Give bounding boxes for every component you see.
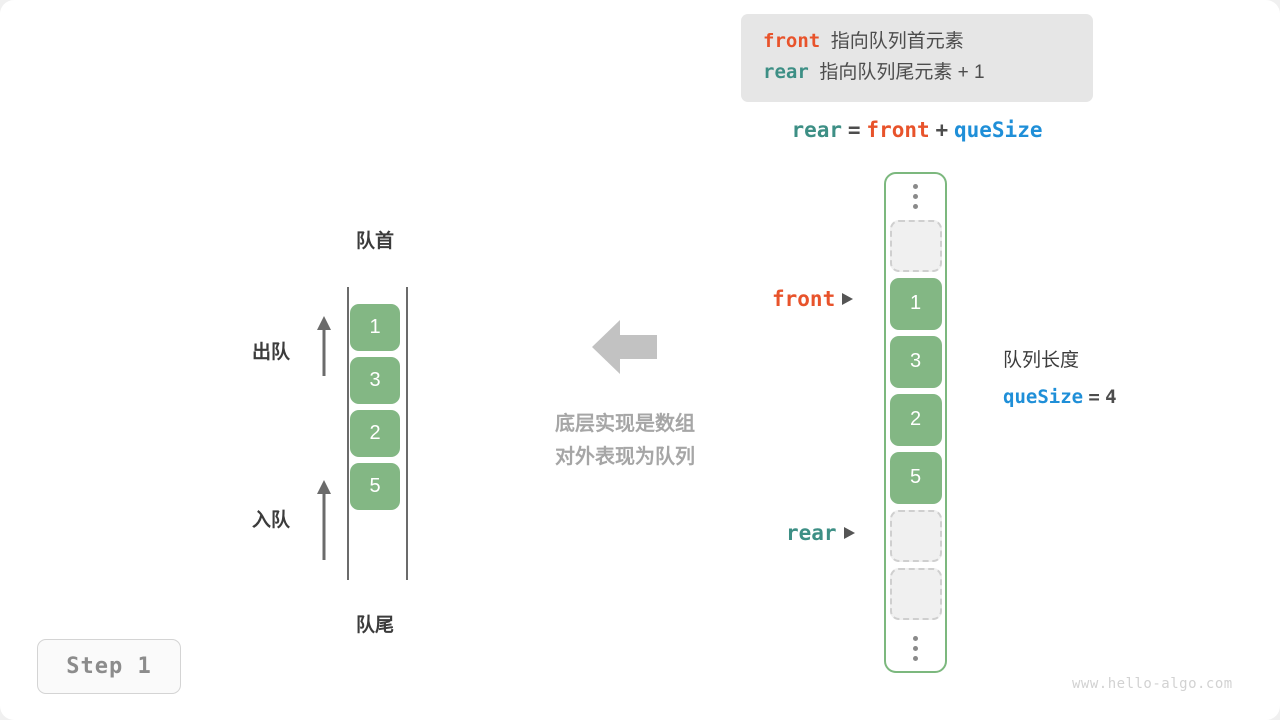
- array-cell-filled: 2: [890, 394, 942, 446]
- array-cell-empty: [890, 220, 942, 272]
- array-container: 1 3 2 5: [884, 172, 947, 673]
- array-cell-empty: [890, 568, 942, 620]
- legend-line-rear: rear 指向队列尾元素 + 1: [763, 57, 1073, 88]
- legend-text-front: 指向队列首元素: [831, 31, 964, 52]
- dequeue-arrow-icon: [315, 314, 333, 376]
- queue-size-caption: 队列长度: [1003, 342, 1117, 379]
- quesize-value: 4: [1105, 386, 1116, 408]
- queue-cell: 5: [350, 463, 400, 510]
- rear-formula: rear = front + queSize: [741, 118, 1093, 143]
- legend-code-rear: rear: [763, 61, 809, 83]
- formula-plus: +: [935, 118, 948, 142]
- queue-rail-left: [347, 287, 349, 580]
- implementation-arrow-icon: [592, 318, 657, 376]
- implementation-note-line1: 底层实现是数组: [500, 408, 750, 441]
- formula-operand-quesize: queSize: [954, 118, 1043, 142]
- array-top-ellipsis-icon: [886, 174, 945, 220]
- legend-text-rear: 指向队列尾元素 + 1: [819, 62, 984, 83]
- queue-head-label: 队首: [300, 226, 450, 253]
- rear-pointer-label: rear: [786, 521, 837, 545]
- enqueue-arrow-icon: [315, 478, 333, 560]
- front-pointer-label: front: [772, 287, 835, 311]
- implementation-note-line2: 对外表现为队列: [500, 441, 750, 474]
- implementation-note: 底层实现是数组 对外表现为队列: [500, 408, 750, 474]
- formula-equals: =: [848, 118, 861, 142]
- array-cell-filled: 1: [890, 278, 942, 330]
- queue-cell: 2: [350, 410, 400, 457]
- array-cell-filled: 5: [890, 452, 942, 504]
- legend-line-front: front 指向队列首元素: [763, 26, 1073, 57]
- legend-code-front: front: [763, 30, 820, 52]
- step-badge: Step 1: [37, 639, 181, 694]
- diagram-canvas: front 指向队列首元素 rear 指向队列尾元素 + 1 rear = fr…: [0, 0, 1280, 720]
- queue-cell: 3: [350, 357, 400, 404]
- quesize-equals: =: [1088, 386, 1099, 408]
- queue-size-note: 队列长度 queSize = 4: [1003, 342, 1117, 416]
- enqueue-label: 入队: [252, 505, 290, 532]
- queue-tail-label: 队尾: [300, 610, 450, 637]
- queue-size-expression: queSize = 4: [1003, 379, 1117, 416]
- pointer-legend-box: front 指向队列首元素 rear 指向队列尾元素 + 1: [741, 14, 1093, 102]
- dequeue-label: 出队: [252, 337, 290, 364]
- queue-cell: 1: [350, 304, 400, 351]
- rear-pointer: rear: [786, 521, 855, 545]
- arrow-right-icon: [844, 527, 855, 539]
- front-pointer: front: [772, 287, 853, 311]
- arrow-right-icon: [842, 293, 853, 305]
- quesize-variable: queSize: [1003, 386, 1083, 408]
- array-cell-empty: [890, 510, 942, 562]
- array-bottom-ellipsis-icon: [886, 626, 945, 672]
- watermark: www.hello-algo.com: [1072, 676, 1233, 692]
- queue-rail-right: [406, 287, 408, 580]
- formula-operand-front: front: [866, 118, 929, 142]
- array-cell-filled: 3: [890, 336, 942, 388]
- formula-lhs: rear: [792, 118, 843, 142]
